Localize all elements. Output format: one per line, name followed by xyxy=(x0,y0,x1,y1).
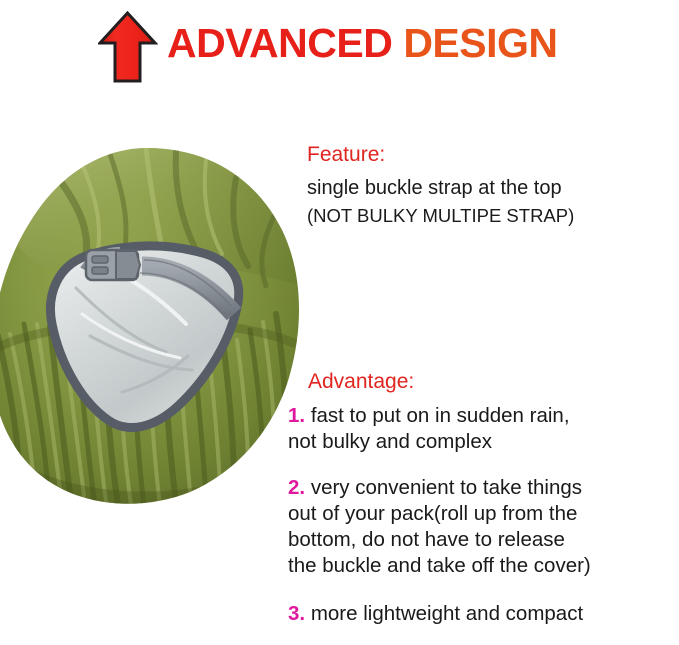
advantage-item-2-line-4: the buckle and take off the cover) xyxy=(288,553,679,579)
feature-line-2: (NOT BULKY MULTIPE STRAP) xyxy=(307,202,677,230)
advantage-item-3: 3. more lightweight and compact xyxy=(288,601,679,627)
advantage-section: Advantage: 1. fast to put on in sudden r… xyxy=(288,367,679,627)
advantage-item-3-line-1: more lightweight and compact xyxy=(311,602,583,625)
feature-section: Feature: single buckle strap at the top … xyxy=(307,140,677,230)
advantage-item-1: 1. fast to put on in sudden rain, not bu… xyxy=(288,403,679,455)
advantage-heading: Advantage: xyxy=(308,367,679,397)
advantage-item-2-line-3: bottom, do not have to release xyxy=(288,527,679,553)
advantage-number-2: 2. xyxy=(288,476,305,499)
header-banner: ADVANCEDDESIGN xyxy=(0,0,679,110)
up-arrow-icon xyxy=(98,11,158,84)
page-title: ADVANCEDDESIGN xyxy=(167,18,558,68)
title-word-advanced: ADVANCED xyxy=(167,20,392,66)
product-photo-rain-cover xyxy=(0,138,308,510)
advantage-item-1-line-1: fast to put on in sudden rain, xyxy=(311,404,570,427)
side-release-buckle xyxy=(86,250,140,280)
infographic-canvas: ADVANCEDDESIGN xyxy=(0,0,679,645)
feature-heading: Feature: xyxy=(307,140,677,170)
advantage-item-2-line-2: out of your pack(roll up from the xyxy=(288,501,679,527)
advantage-item-2: 2. very convenient to take things out of… xyxy=(288,475,679,579)
advantage-item-1-line-2: not bulky and complex xyxy=(288,429,679,455)
advantage-number-1: 1. xyxy=(288,404,305,427)
advantage-item-2-line-1: very convenient to take things xyxy=(311,476,582,499)
title-word-design: DESIGN xyxy=(403,20,557,66)
feature-line-1: single buckle strap at the top xyxy=(307,174,677,202)
advantage-number-3: 3. xyxy=(288,602,305,625)
